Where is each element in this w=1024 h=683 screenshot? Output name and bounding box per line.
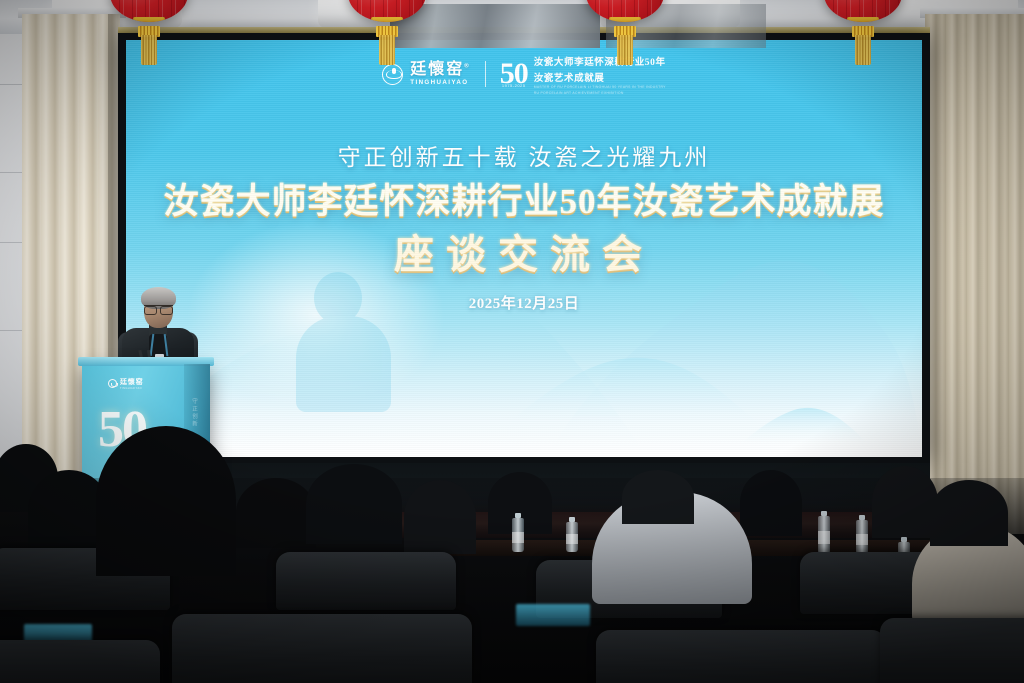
lantern-4 xyxy=(824,0,902,22)
tinghuaiyao-seal-icon xyxy=(382,64,403,85)
water-bottle xyxy=(856,520,868,554)
audience-person xyxy=(872,466,938,538)
podium-side-text: 守正创新 xyxy=(188,398,198,428)
audience-person xyxy=(404,480,476,554)
anniversary-number: 50 xyxy=(500,60,528,87)
anniversary-caption-en1: MASTER OF RU PORCELAIN LI TINGHUAI 50 YE… xyxy=(534,85,666,89)
audience-person xyxy=(930,480,1008,546)
anniversary-caption-line2: 汝瓷艺术成就展 xyxy=(534,70,666,84)
brand-name-en: TINGHUAIYAO xyxy=(410,80,470,86)
led-screen: 廷懷窑® TINGHUAIYAO 50 1975-2025 汝瓷大师李廷怀深耕行… xyxy=(126,40,922,457)
water-bottle xyxy=(818,516,830,554)
slide-logo-row: 廷懷窑® TINGHUAIYAO 50 1975-2025 汝瓷大师李廷怀深耕行… xyxy=(126,54,922,95)
curtain-right xyxy=(925,14,1024,534)
conference-hall-scene: 廷懷窑® TINGHUAIYAO 50 1975-2025 汝瓷大师李廷怀深耕行… xyxy=(0,0,1024,683)
lantern-3 xyxy=(586,0,664,22)
slide-subtitle: 守正创新五十载 汝瓷之光耀九州 xyxy=(126,138,922,172)
lantern-1 xyxy=(110,0,188,22)
brand-name-cn: 廷懷窑® xyxy=(410,62,470,78)
registered-mark: ® xyxy=(464,64,470,70)
slide-date: 2025年12月25日 xyxy=(126,292,922,313)
conference-chair xyxy=(880,618,1024,683)
anniversary-caption-en2: RU PORCELAIN ART ACHIEVEMENT EXHIBITION xyxy=(534,91,666,95)
audience-person xyxy=(740,470,802,536)
tinghuaiyao-seal-icon xyxy=(108,379,117,388)
audience-person xyxy=(306,464,402,544)
tablet-screen-glow xyxy=(516,604,590,626)
podium-brand-cn: 廷懷窑 xyxy=(120,377,143,387)
water-bottle xyxy=(566,522,578,552)
podium-brand-en: TINGHUAIYAO xyxy=(120,387,143,390)
audience-person xyxy=(236,478,316,548)
tinghuaiyao-brand: 廷懷窑® TINGHUAIYAO xyxy=(382,62,470,86)
slide-title-line1: 汝瓷大师李廷怀深耕行业50年汝瓷艺术成就展 xyxy=(126,173,922,224)
audience-person xyxy=(96,426,236,576)
led-screen-frame: 廷懷窑® TINGHUAIYAO 50 1975-2025 汝瓷大师李廷怀深耕行… xyxy=(118,33,930,463)
podium-brand-logo: 廷懷窑 TINGHUAIYAO xyxy=(108,377,143,390)
anniversary-caption-line1: 汝瓷大师李廷怀深耕行业50年 xyxy=(534,54,666,68)
speaker-person xyxy=(122,288,194,368)
anniversary-mark: 50 1975-2025 汝瓷大师李廷怀深耕行业50年 汝瓷艺术成就展 MAST… xyxy=(500,54,666,95)
logo-divider xyxy=(485,61,486,87)
lantern-2 xyxy=(348,0,426,22)
conference-chair xyxy=(596,630,886,683)
audience-person xyxy=(622,470,694,524)
conference-chair xyxy=(0,640,160,683)
water-bottle xyxy=(512,518,524,552)
conference-chair xyxy=(276,552,456,610)
glasses-icon xyxy=(144,305,173,312)
conference-chair xyxy=(172,614,472,683)
slide-title-line2: 座谈交流会 xyxy=(126,222,922,280)
